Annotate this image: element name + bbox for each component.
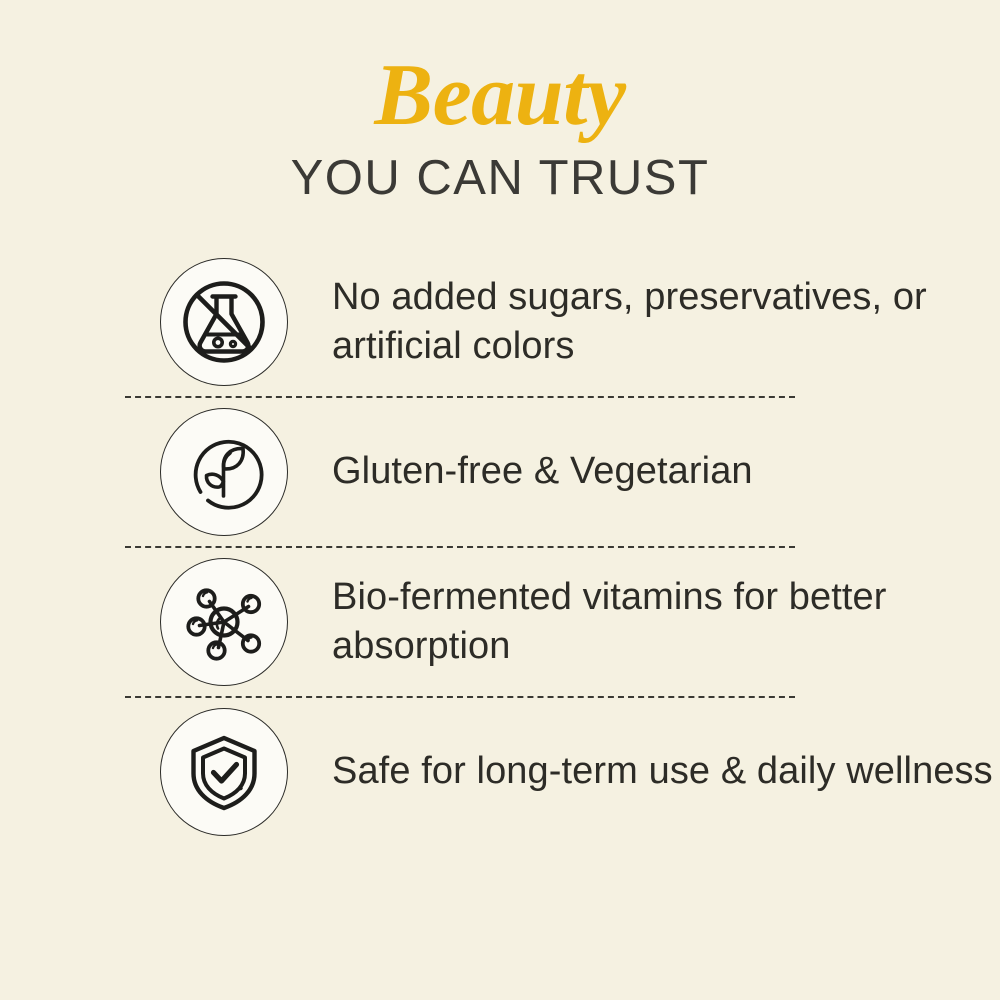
list-item-label: Safe for long-term use & daily wellness	[332, 747, 993, 796]
promo-infographic: Beauty YOU CAN TRUST	[0, 0, 1000, 1000]
list-item: Gluten-free & Vegetarian	[0, 398, 1000, 546]
page-subtitle: YOU CAN TRUST	[0, 154, 1000, 203]
no-chemicals-flask-icon	[160, 258, 288, 386]
plant-sprout-icon	[160, 408, 288, 536]
list-item-label: Gluten-free & Vegetarian	[332, 447, 753, 496]
list-item-label: No added sugars, preservatives, or artif…	[332, 273, 1000, 372]
page-header: Beauty YOU CAN TRUST	[0, 52, 1000, 203]
molecule-icon	[160, 558, 288, 686]
list-item: No added sugars, preservatives, or artif…	[0, 248, 1000, 396]
feature-list: No added sugars, preservatives, or artif…	[0, 248, 1000, 846]
shield-check-icon	[160, 708, 288, 836]
list-item-label: Bio-fermented vitamins for better absorp…	[332, 573, 1000, 672]
list-item: Safe for long-term use & daily wellness	[0, 698, 1000, 846]
page-title-script: Beauty	[0, 52, 1000, 140]
list-item: Bio-fermented vitamins for better absorp…	[0, 548, 1000, 696]
